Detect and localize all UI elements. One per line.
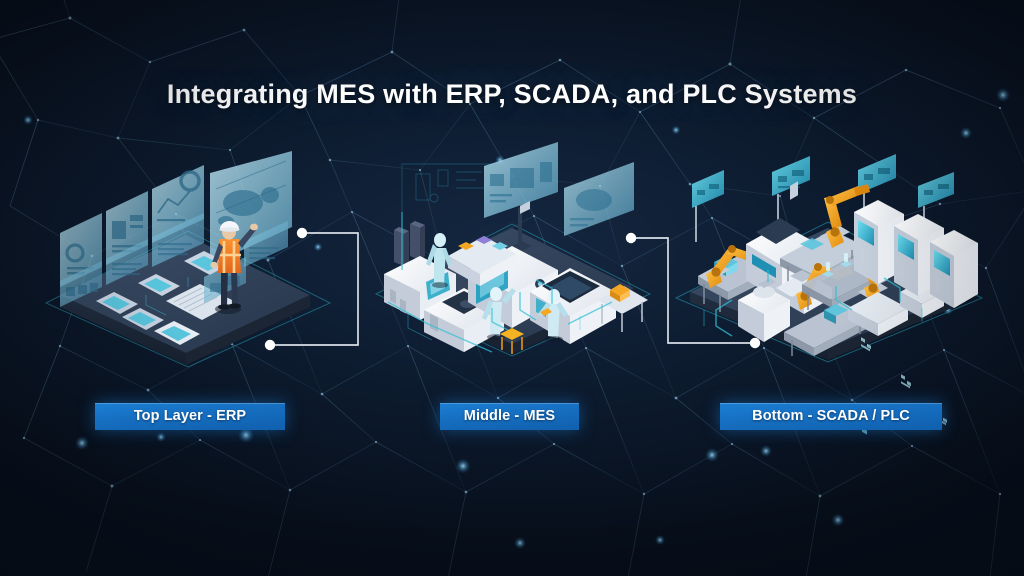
- layer-badge-scada-plc[interactable]: Bottom - SCADA / PLC: [720, 403, 942, 430]
- layer-badge-erp[interactable]: Top Layer - ERP: [95, 403, 285, 430]
- infographic-canvas: Integrating MES with ERP, SCADA, and PLC…: [0, 0, 1024, 576]
- layer-badge-mes[interactable]: Middle - MES: [440, 403, 579, 430]
- connector-node-mes-top[interactable]: [626, 233, 636, 243]
- connector-node-plc-bottom[interactable]: [750, 338, 760, 348]
- connector-node-erp-top[interactable]: [297, 228, 307, 238]
- layer-connectors: [0, 0, 1024, 576]
- connector-mes-to-plc: [633, 238, 753, 343]
- connector-node-erp-bottom[interactable]: [265, 340, 275, 350]
- connector-erp-to-mes: [272, 233, 358, 345]
